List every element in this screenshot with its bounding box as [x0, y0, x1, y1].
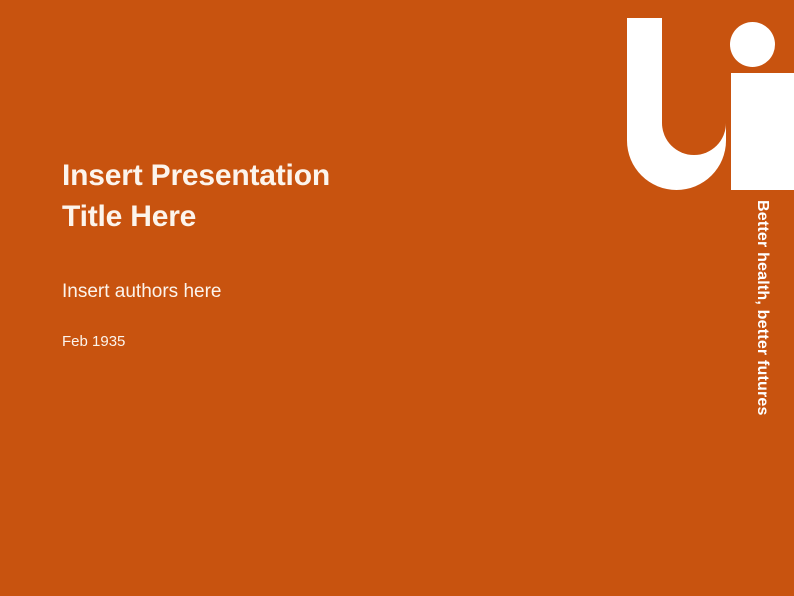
slide-authors: Insert authors here — [62, 281, 221, 303]
title-slide: Better health, better futures Insert Pre… — [0, 0, 794, 596]
brand-tagline: Better health, better futures — [744, 200, 780, 430]
logo-letter-i-stem — [731, 73, 794, 190]
page-title: Insert Presentation Title Here — [62, 155, 622, 237]
logo-letter-u-counter — [662, 18, 726, 155]
slide-date: Feb 1935 — [62, 333, 125, 350]
brand-tagline-text: Better health, better futures — [753, 200, 771, 416]
logo-letter-i-dot — [730, 22, 775, 67]
slide-text-block: Insert Presentation Title Here Insert au… — [62, 155, 622, 237]
slide-footer: THE UNIVERSITY OF EDINBURGH THE UNIVERSI… — [0, 500, 794, 596]
usher-institute-logo-mark — [620, 0, 794, 200]
